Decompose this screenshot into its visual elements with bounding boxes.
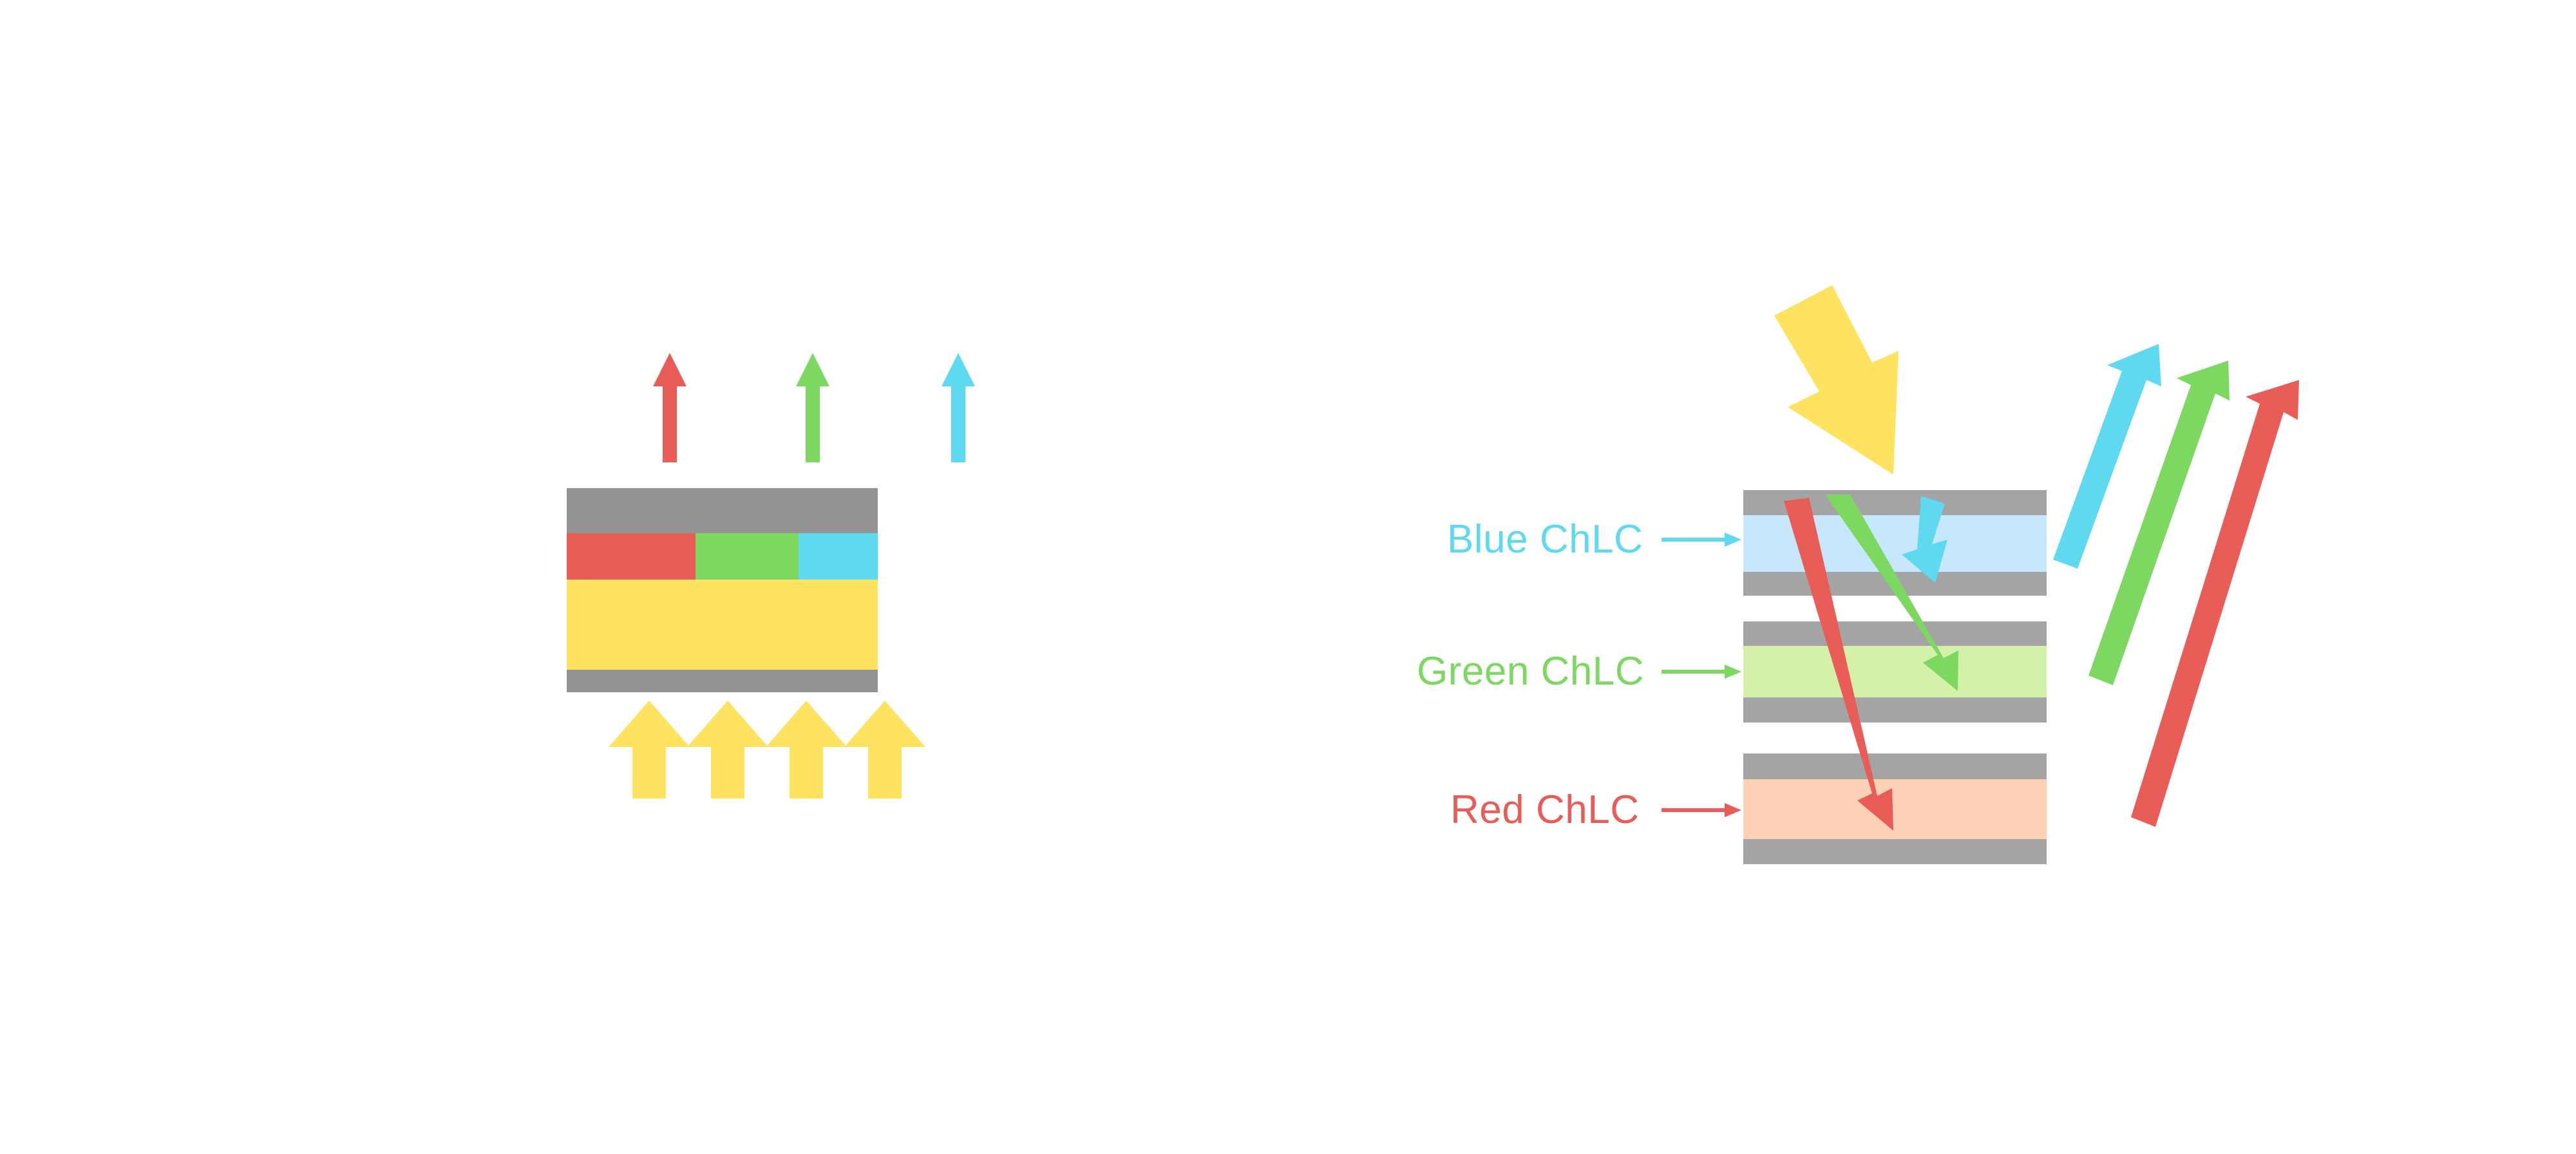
green-subpixel xyxy=(696,533,799,580)
right-stack-layers xyxy=(1743,490,2047,864)
top-electrode xyxy=(567,488,878,533)
emitted-light-arrows xyxy=(653,353,975,462)
blue-label-arrow xyxy=(1662,533,1741,547)
green-emission-arrow xyxy=(796,353,829,462)
green-cell-top-substrate xyxy=(1743,621,2047,646)
diagram-canvas: Blue ChLC Green ChLC Red ChLC xyxy=(0,0,2576,1154)
backlight-arrow xyxy=(687,701,768,799)
red-reflected-ray-up xyxy=(2131,380,2299,827)
right-panel-group: Blue ChLC Green ChLC Red ChLC xyxy=(1417,285,2299,864)
backlight-layer xyxy=(567,580,878,670)
blue-subpixel xyxy=(799,533,878,580)
left-stack-layers xyxy=(567,488,878,692)
bottom-electrode xyxy=(567,670,878,692)
green-chlc-layer xyxy=(1743,646,2047,697)
label-leader-arrows xyxy=(1662,533,1741,817)
red-cell-bottom-substrate xyxy=(1743,839,2047,864)
red-emission-arrow xyxy=(653,353,687,462)
green-label-arrow xyxy=(1662,665,1741,679)
blue-chlc-label: Blue ChLC xyxy=(1447,517,1643,562)
reflected-ray-arrows xyxy=(2053,344,2299,827)
green-chlc-label: Green ChLC xyxy=(1417,649,1644,694)
chlc-display-diagram: Blue ChLC Green ChLC Red ChLC xyxy=(0,0,2576,1154)
red-label-arrow xyxy=(1662,803,1741,817)
red-subpixel xyxy=(567,533,696,580)
blue-emission-arrow xyxy=(942,353,975,462)
backlight-arrow xyxy=(766,701,847,799)
backlight-arrow xyxy=(844,701,925,799)
red-cell-top-substrate xyxy=(1743,753,2047,779)
red-chlc-label: Red ChLC xyxy=(1450,788,1639,832)
green-cell-bottom-substrate xyxy=(1743,697,2047,723)
ambient-light-incident-arrow xyxy=(1774,285,1899,475)
red-chlc-layer xyxy=(1743,779,2047,839)
backlight-arrows xyxy=(609,701,925,799)
blue-chlc-layer xyxy=(1743,515,2047,572)
backlight-arrow xyxy=(609,701,690,799)
left-panel-group xyxy=(567,353,975,799)
